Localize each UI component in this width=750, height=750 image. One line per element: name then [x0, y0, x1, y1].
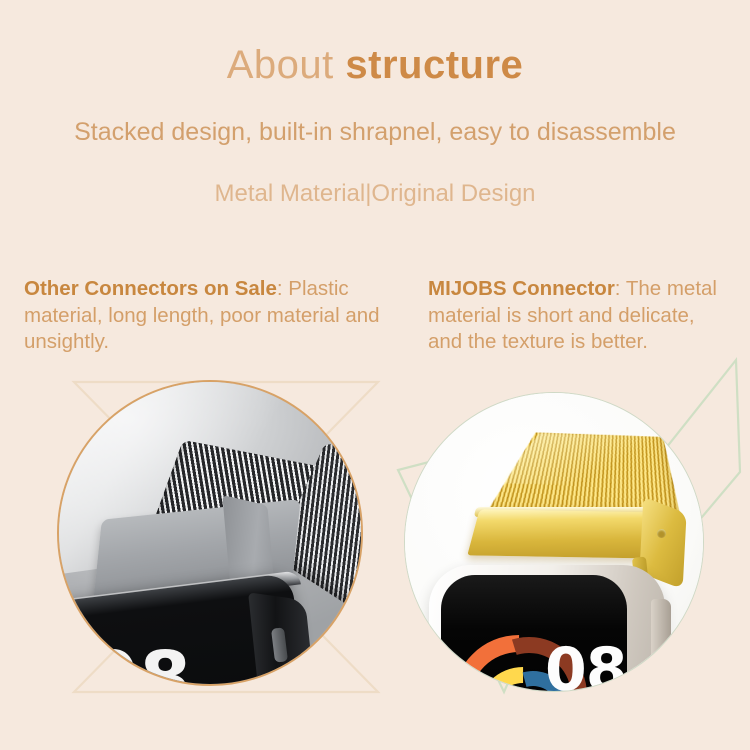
- left-photo-artwork: 08: [59, 382, 361, 684]
- left-product-photo: 08: [57, 380, 363, 686]
- product-comparison-page: About structure Stacked design, built-in…: [0, 0, 750, 750]
- page-title: About structure: [0, 40, 750, 90]
- left-watch-time: 08: [87, 636, 192, 686]
- right-caption: MIJOBS Connector: The metal material is …: [428, 276, 728, 356]
- subtitle-primary: Stacked design, built-in shrapnel, easy …: [0, 115, 750, 149]
- subtitle-secondary: Metal Material|Original Design: [0, 178, 750, 210]
- page-title-light: About: [227, 43, 346, 87]
- page-title-bold: structure: [345, 43, 523, 87]
- watch-hours: 08: [545, 635, 627, 692]
- right-caption-colon: : The: [615, 277, 661, 300]
- left-caption: Other Connectors on Sale: Plastic materi…: [24, 276, 389, 356]
- gold-hinge-pin: [657, 529, 666, 538]
- left-caption-heading: Other Connectors on Sale: [24, 277, 277, 300]
- white-watch-crown: [651, 599, 671, 663]
- right-caption-heading: MIJOBS Connector: [428, 277, 615, 300]
- left-caption-colon: :: [277, 277, 283, 300]
- right-photo-artwork: 08 16: [405, 393, 703, 691]
- right-product-photo: 08 16: [404, 392, 704, 692]
- watch-screen: 08 16: [441, 575, 627, 692]
